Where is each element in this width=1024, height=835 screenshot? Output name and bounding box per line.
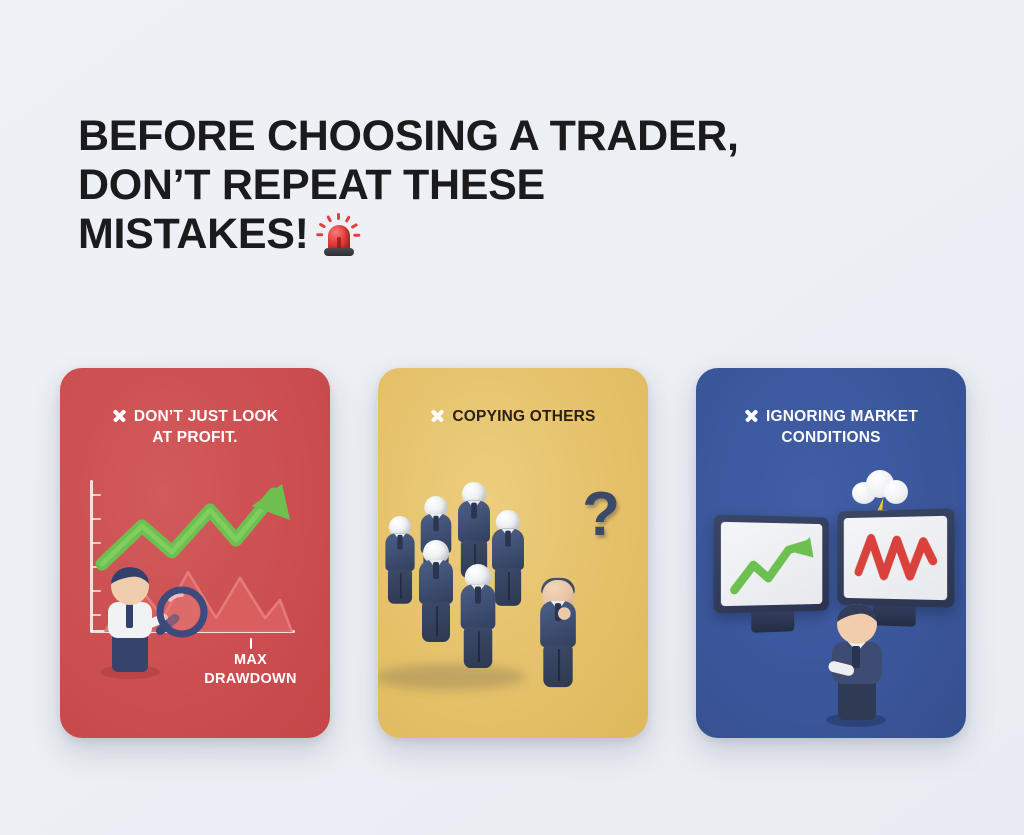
- monitor-volatility: [837, 508, 954, 607]
- card-title-copying-line1: COPYING OTHERS: [452, 408, 595, 425]
- page-title: BEFORE CHOOSING A TRADER, DON’T REPEAT T…: [78, 112, 838, 259]
- headline-line-2: DON’T REPEAT THESE: [78, 161, 838, 210]
- uptrend-chart: [721, 522, 822, 606]
- card-title-profit: DON’T JUST LOOK AT PROFIT.: [76, 406, 314, 448]
- mistake-card-copying[interactable]: COPYING OTHERS ?: [378, 368, 648, 738]
- volatility-chart: [844, 516, 947, 600]
- question-mark-icon: ?: [582, 484, 620, 546]
- storm-cloud-icon: [852, 470, 908, 504]
- headline-line-3: MISTAKES!: [78, 210, 309, 259]
- x-mark-icon: [112, 408, 127, 423]
- max-drawdown-annotation: MAX DRAWDOWN: [178, 638, 323, 689]
- card-title-market-line1: IGNORING MARKET: [766, 408, 918, 425]
- card-title-market: IGNORING MARKET CONDITIONS: [712, 406, 950, 448]
- police-siren-emoji: [319, 213, 359, 257]
- mistake-card-market-conditions[interactable]: IGNORING MARKET CONDITIONS: [696, 368, 966, 738]
- card-title-profit-line1: DON’T JUST LOOK: [134, 408, 278, 425]
- crowd-illustration: ?: [378, 468, 648, 738]
- headline-line-3-row: MISTAKES!: [78, 210, 838, 259]
- annotation-line-1: MAX: [234, 652, 267, 668]
- market-monitors-illustration: [696, 468, 966, 738]
- crowd-shadow: [378, 664, 525, 690]
- headline-line-1: BEFORE CHOOSING A TRADER,: [78, 112, 838, 161]
- x-mark-icon: [744, 408, 759, 423]
- card-title-market-line2: CONDITIONS: [781, 429, 880, 446]
- annotation-line-2: DRAWDOWN: [204, 671, 297, 687]
- trader-figure: [804, 598, 914, 728]
- mistake-card-profit[interactable]: DON’T JUST LOOK AT PROFIT.: [60, 368, 330, 738]
- card-title-copying: COPYING OTHERS: [394, 406, 632, 427]
- annotation-tick-icon: [250, 638, 252, 649]
- drawdown-chart-illustration: MAX DRAWDOWN: [60, 468, 330, 738]
- mistake-card-list: DON’T JUST LOOK AT PROFIT.: [60, 368, 966, 738]
- card-title-profit-line2: AT PROFIT.: [152, 429, 237, 446]
- x-mark-icon: [430, 408, 445, 423]
- infographic-canvas: BEFORE CHOOSING A TRADER, DON’T REPEAT T…: [0, 0, 1024, 835]
